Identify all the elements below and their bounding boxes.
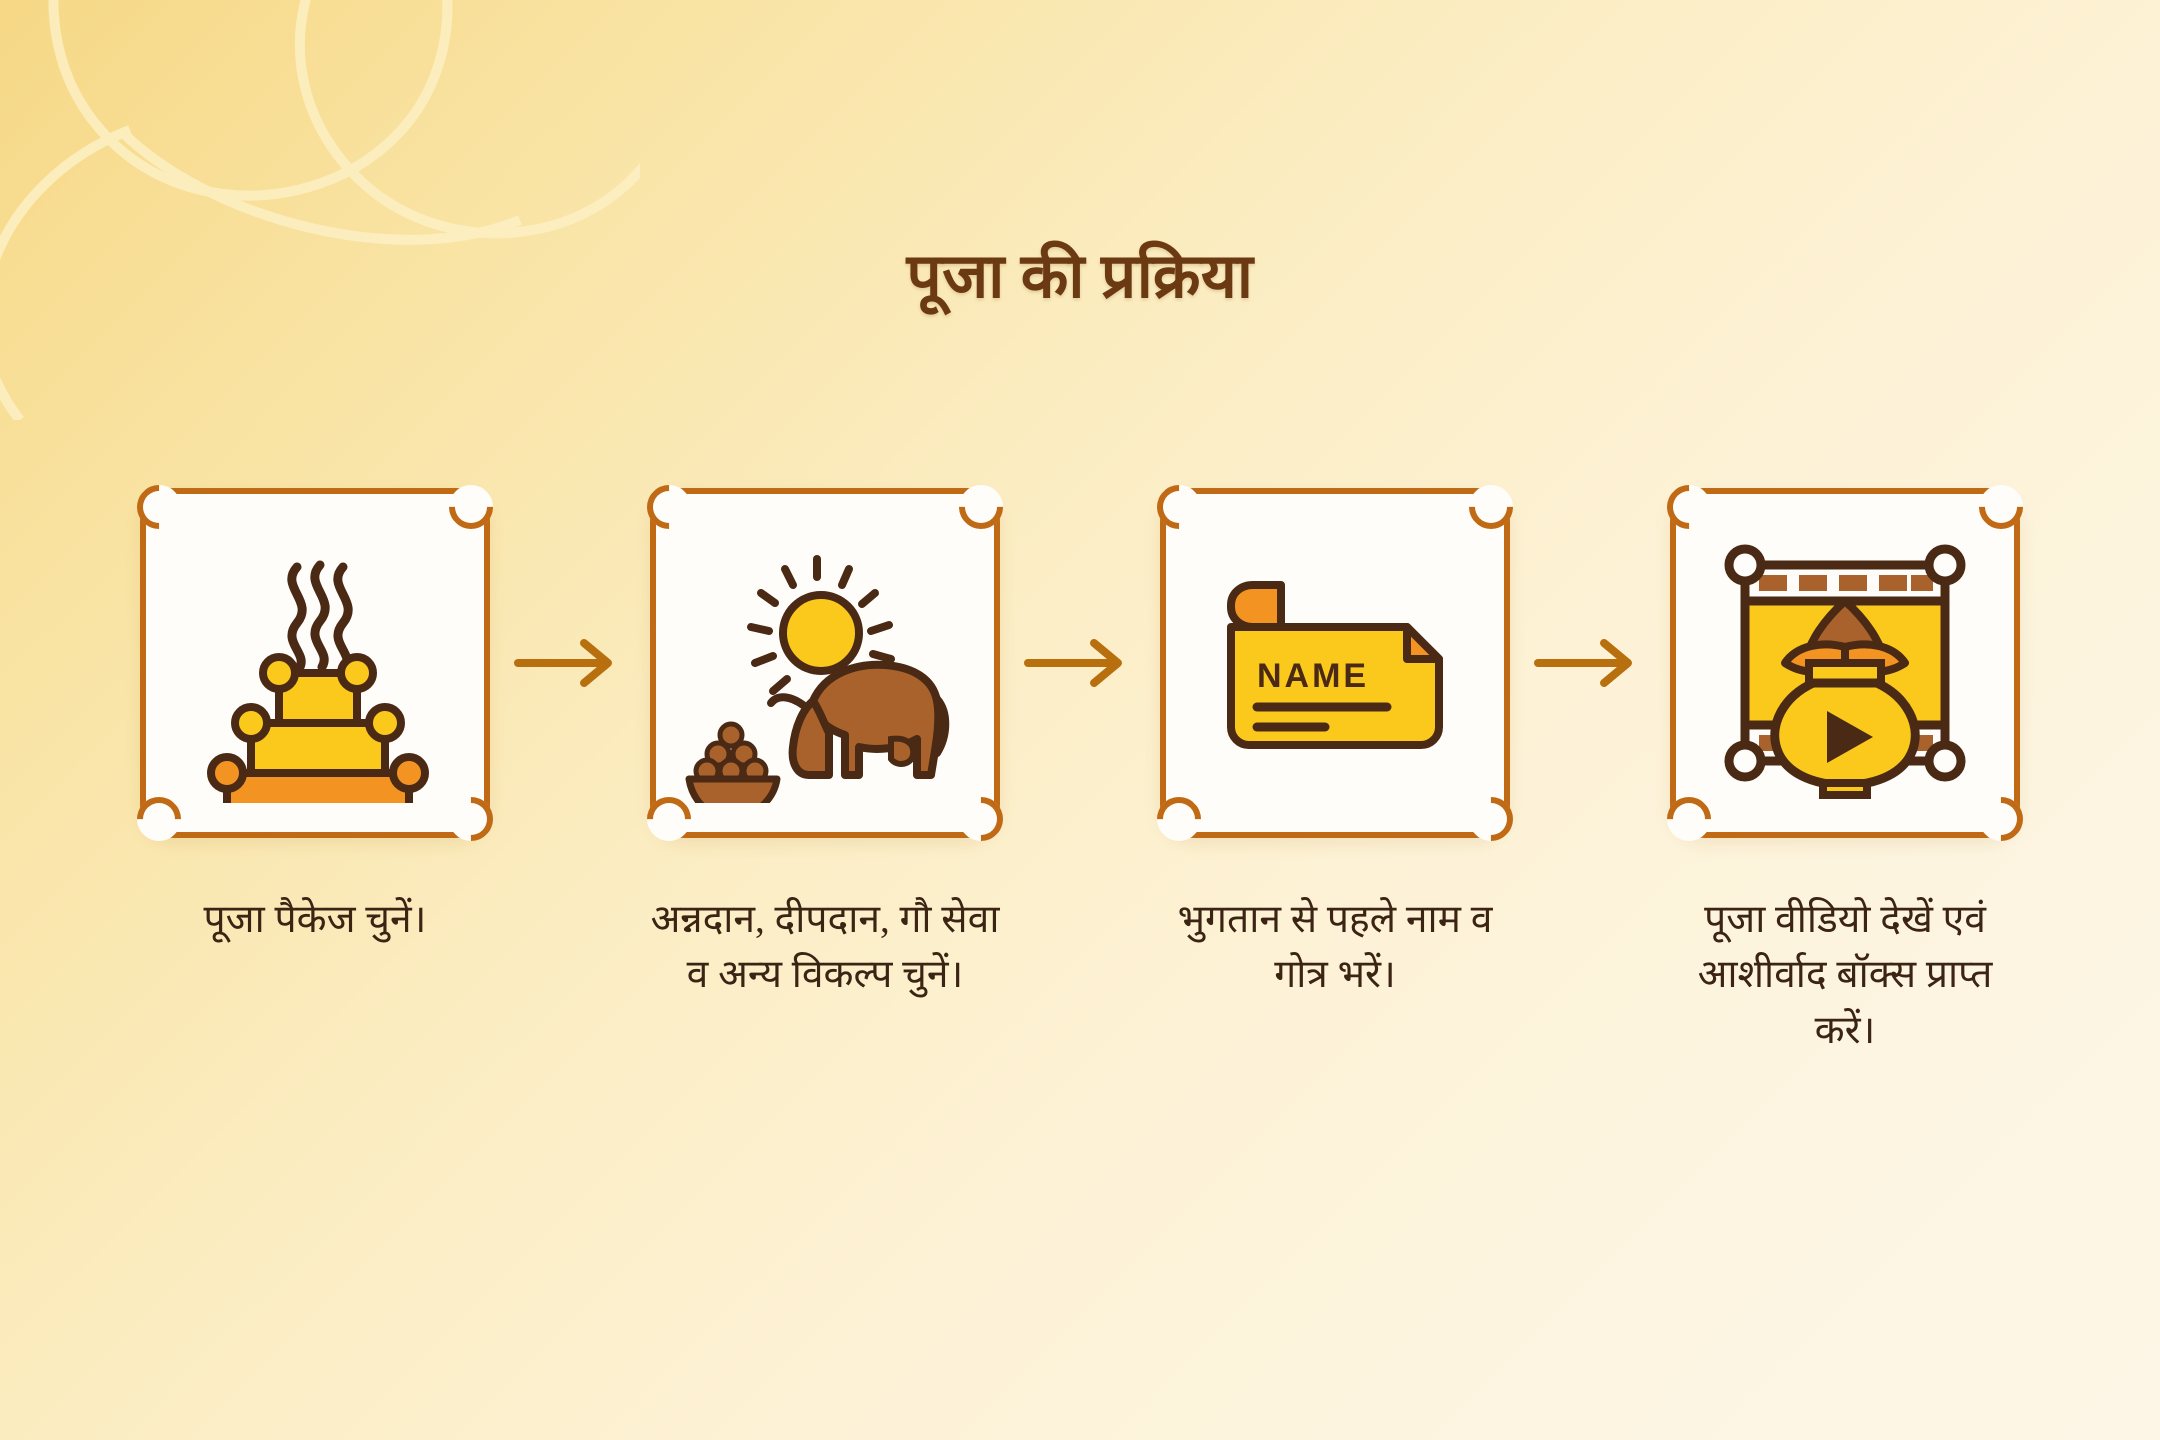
step-2-caption: अन्नदान, दीपदान, गौ सेवा व अन्य विकल्प च… [645, 892, 1005, 1003]
cow-seva-sun-icon [685, 523, 965, 803]
decorative-petal-pattern [0, 0, 640, 420]
name-field-label: NAME [1257, 657, 1369, 695]
step-1-caption: पूजा पैकेज चुनें। [135, 892, 495, 947]
card-corner-fold-left [1231, 585, 1281, 627]
laddu-bowl [689, 724, 777, 803]
arrow-right-icon [1530, 633, 1650, 693]
process-flow: पूजा पैकेज चुनें। [0, 488, 2160, 1058]
arrow-step-3-to-4 [1520, 488, 1660, 838]
frame-ring-top-right [1929, 549, 1961, 581]
sun-disc [783, 595, 859, 671]
card-corner-fold-right [1407, 627, 1439, 659]
step-4-card[interactable] [1670, 488, 2020, 838]
frame-ring-top-left [1729, 549, 1761, 581]
arrow-right-icon [1020, 633, 1140, 693]
name-form-card-icon: NAME [1195, 523, 1475, 803]
arrow-step-2-to-3 [1010, 488, 1150, 838]
cow-udder [891, 739, 913, 764]
process-step-3[interactable]: NAME भुगतान से पहले नाम व गोत्र भरें। [1150, 488, 1520, 1003]
havan-kund-altar-icon [175, 523, 455, 803]
arrow-right-icon [510, 633, 630, 693]
cow-horn [771, 697, 803, 705]
page-title: पूजा की प्रक्रिया [0, 246, 2160, 308]
step-3-caption: भुगतान से पहले नाम व गोत्र भरें। [1155, 892, 1515, 1003]
step-2-card[interactable] [650, 488, 1000, 838]
step-1-card[interactable] [140, 488, 490, 838]
frame-ring-bottom-right [1929, 745, 1961, 777]
process-step-1[interactable]: पूजा पैकेज चुनें। [130, 488, 500, 947]
process-step-4[interactable]: पूजा वीडियो देखें एवं आशीर्वाद बॉक्स प्र… [1660, 488, 2030, 1058]
process-step-2[interactable]: अन्नदान, दीपदान, गौ सेवा व अन्य विकल्प च… [640, 488, 1010, 1003]
step-3-card[interactable]: NAME [1160, 488, 1510, 838]
puja-process-poster: पूजा की प्रक्रिया [0, 0, 2160, 1440]
puja-video-kalash-icon [1705, 523, 1985, 803]
frame-ring-bottom-left [1729, 745, 1761, 777]
step-4-caption: पूजा वीडियो देखें एवं आशीर्वाद बॉक्स प्र… [1665, 892, 2025, 1058]
cow-head [793, 701, 829, 775]
kalash-base [1823, 783, 1867, 795]
arrow-step-1-to-2 [500, 488, 640, 838]
